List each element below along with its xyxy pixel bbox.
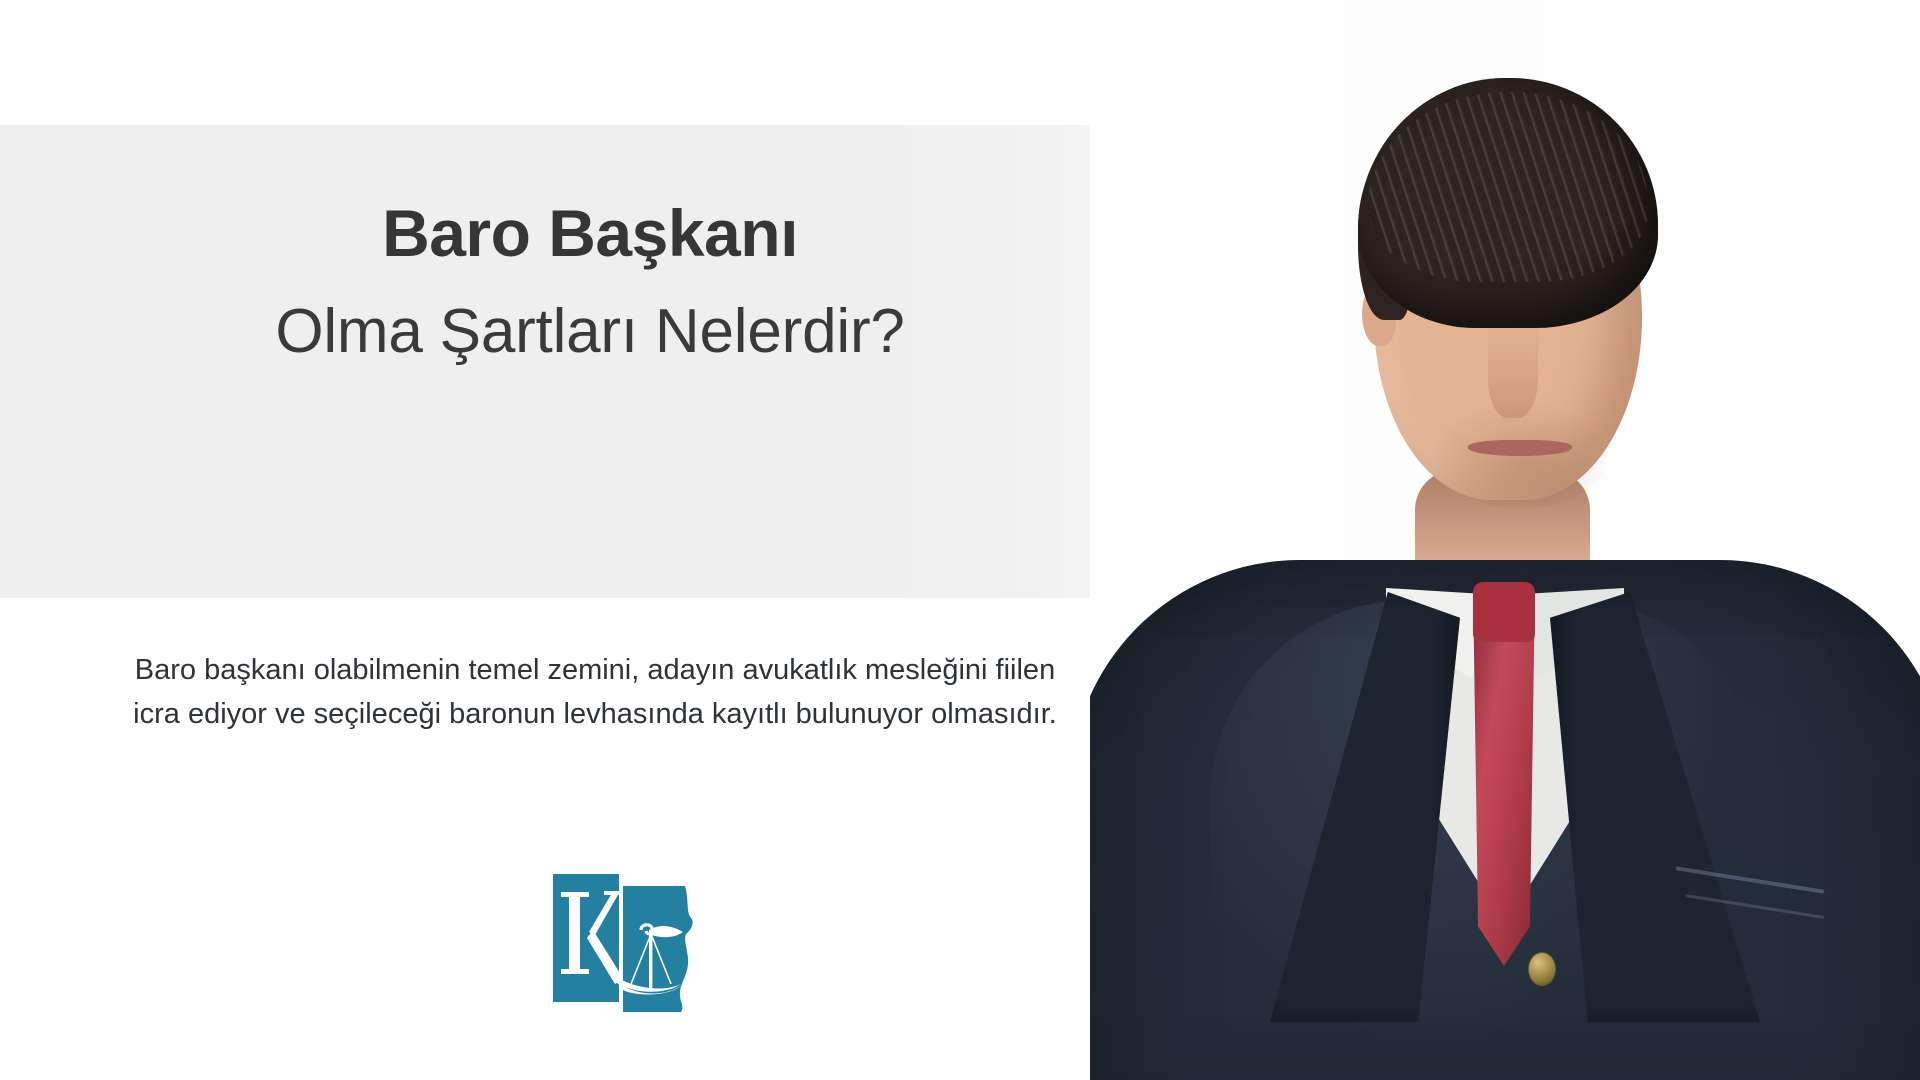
law-firm-logo[interactable] xyxy=(549,860,721,1032)
necktie-knot xyxy=(1473,582,1535,642)
headline-line-1: Baro Başkanı xyxy=(0,195,1180,273)
headline-line-2: Olma Şartları Nelerdir? xyxy=(0,295,1180,368)
scales-of-justice-icon xyxy=(549,860,721,1032)
necktie xyxy=(1468,636,1540,966)
text-column: Baro Başkanı Olma Şartları Nelerdir? Bar… xyxy=(0,0,1180,1080)
jacket-button xyxy=(1528,952,1556,986)
slide-canvas: Baro Başkanı Olma Şartları Nelerdir? Bar… xyxy=(0,0,1920,1080)
body-paragraph: Baro başkanı olabilmenin temel zemini, a… xyxy=(120,648,1070,736)
page-title: Baro Başkanı Olma Şartları Nelerdir? xyxy=(0,195,1180,368)
mouth xyxy=(1468,440,1572,456)
nose xyxy=(1488,322,1538,418)
man-in-suit-portrait xyxy=(1090,0,1920,1080)
